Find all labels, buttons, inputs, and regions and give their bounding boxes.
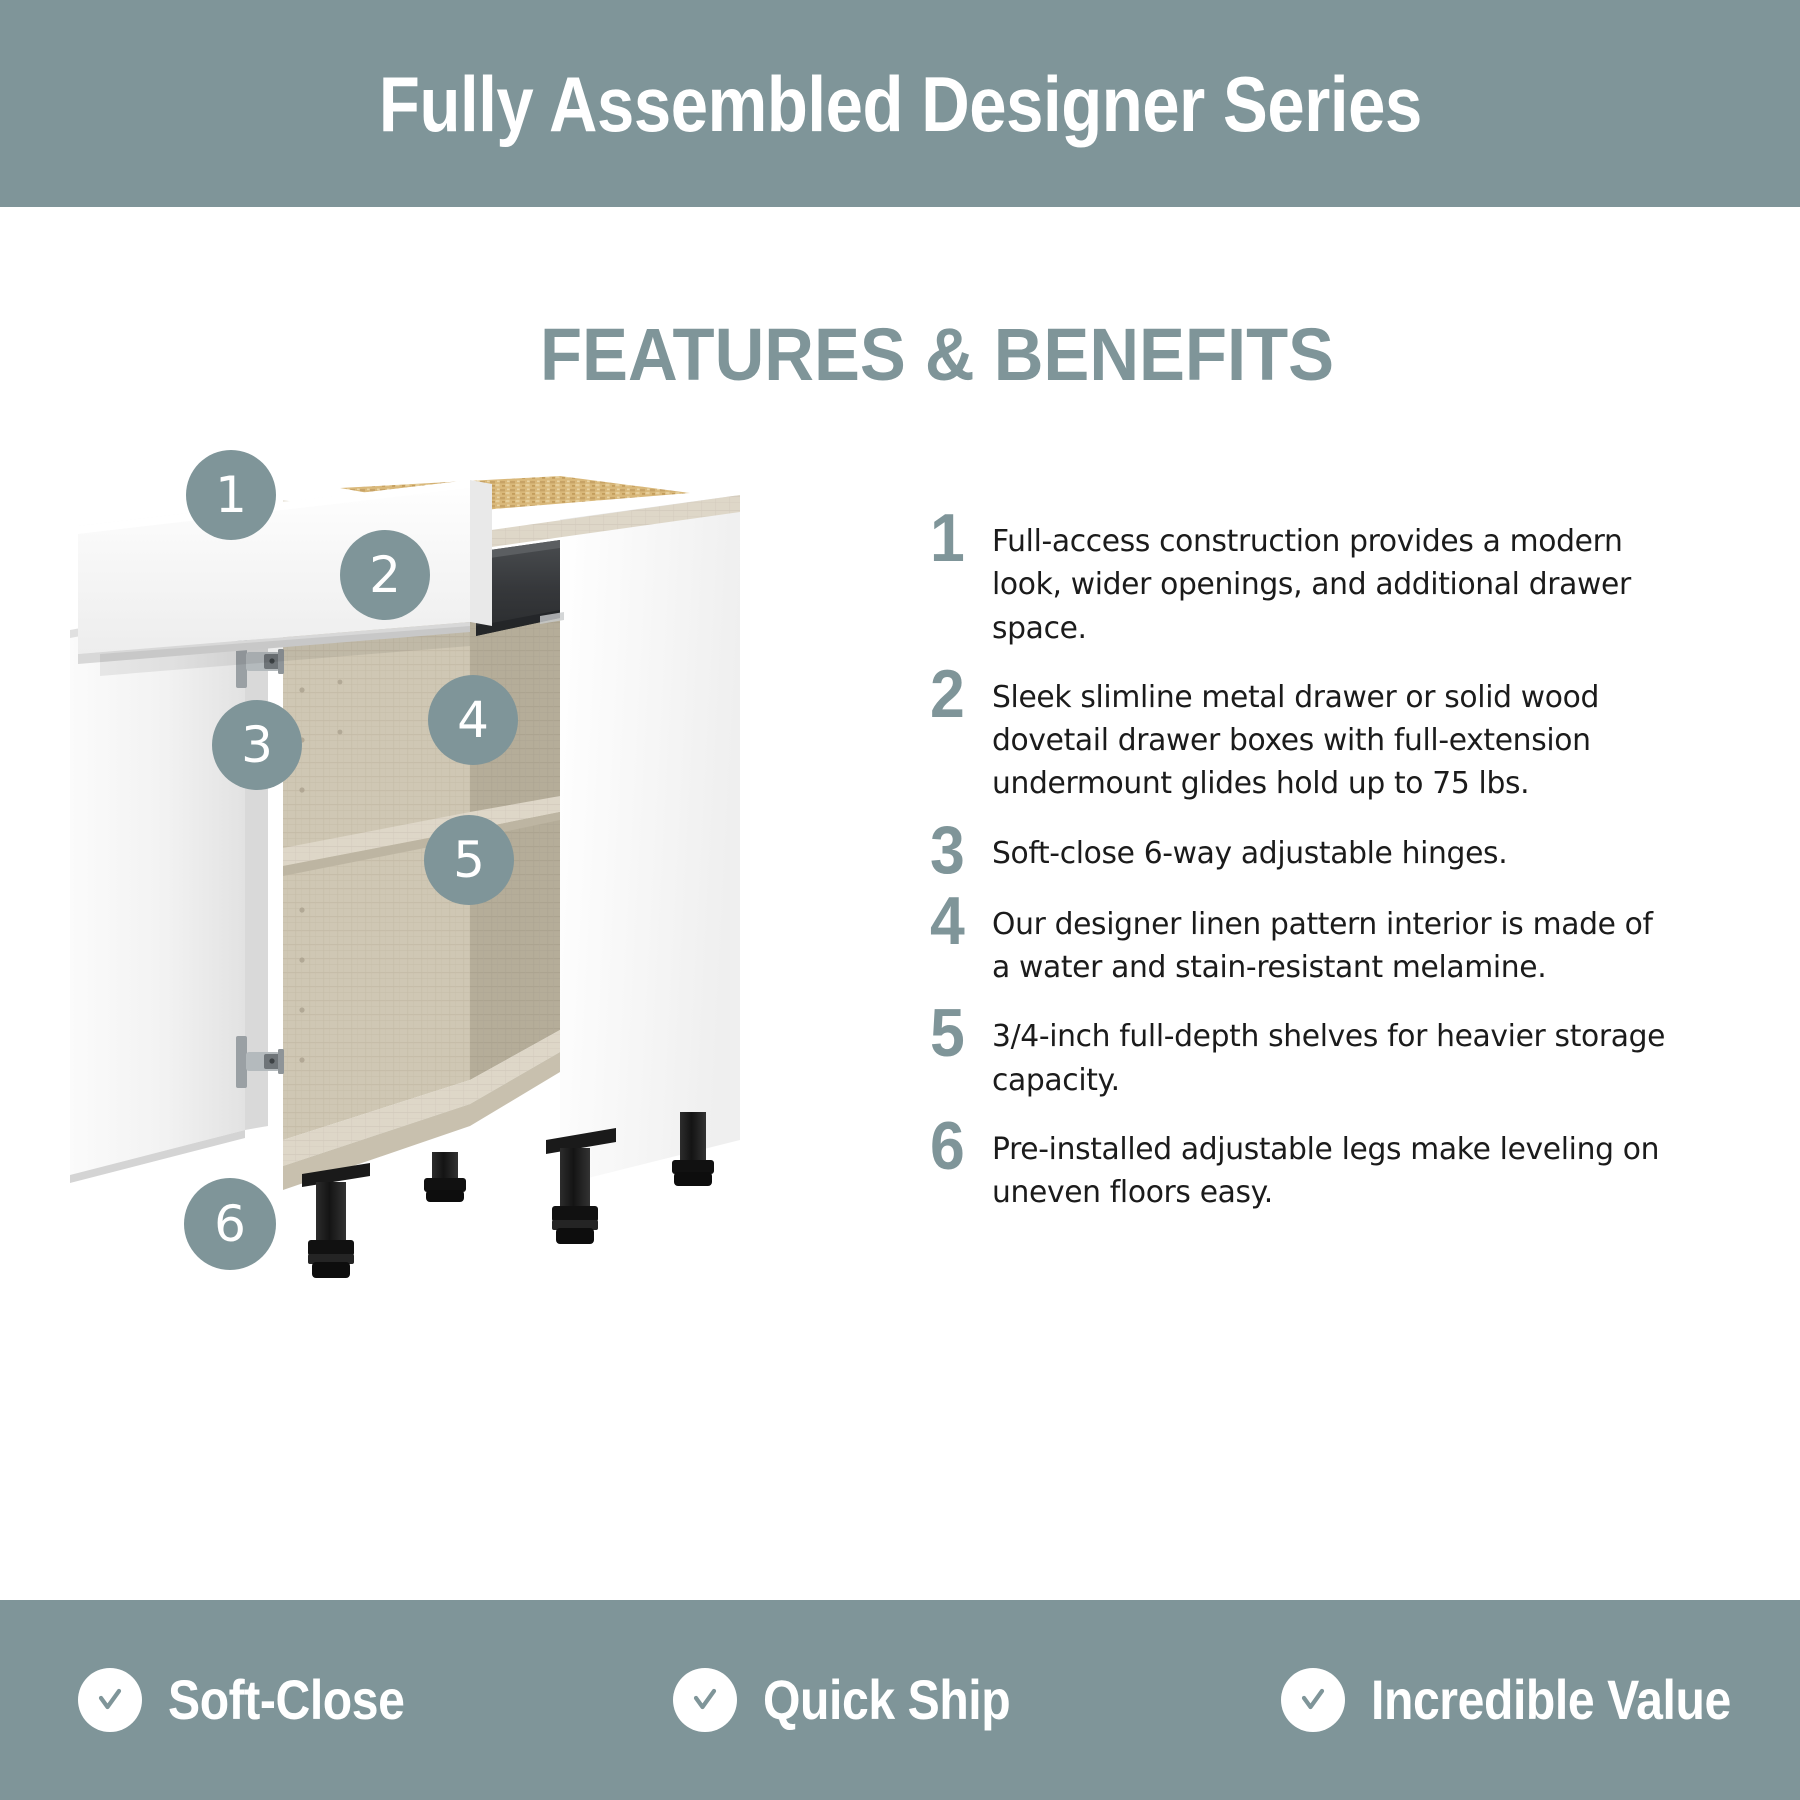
callout-badge-2[interactable]: 2 — [340, 530, 430, 620]
feature-text-6: Pre-installed adjustable legs make level… — [992, 1128, 1673, 1215]
feature-text-2: Sleek slimline metal drawer or solid woo… — [992, 676, 1673, 806]
footer-label-soft-close: Soft-Close — [168, 1672, 405, 1728]
check-icon — [78, 1668, 142, 1732]
footer-label-quick-ship: Quick Ship — [763, 1672, 1010, 1728]
feature-text-3: Soft-close 6-way adjustable hinges. — [992, 832, 1673, 875]
callout-badge-3[interactable]: 3 — [212, 700, 302, 790]
feature-number-3: 3 — [930, 824, 987, 877]
feature-item-2: 2 Sleek slimline metal drawer or solid w… — [930, 676, 1690, 806]
feature-item-5: 5 3/4-inch full-depth shelves for heavie… — [930, 1015, 1690, 1102]
door-inner-edge — [245, 598, 268, 1130]
feature-item-1: 1 Full-access construction provides a mo… — [930, 520, 1690, 650]
feature-number-2: 2 — [930, 668, 987, 721]
infographic-page: Fully Assembled Designer Series FEATURES… — [0, 0, 1800, 1800]
feature-text-1: Full-access construction provides a mode… — [992, 520, 1673, 650]
check-icon — [1281, 1668, 1345, 1732]
adjustable-leg-back-center — [424, 1152, 466, 1202]
footer-label-incredible-value: Incredible Value — [1371, 1672, 1731, 1728]
drawer-front-side — [470, 480, 492, 626]
footer-band: Soft-Close Quick Ship Incredible Value — [0, 1600, 1800, 1800]
feature-number-4: 4 — [930, 895, 987, 948]
feature-item-3: 3 Soft-close 6-way adjustable hinges. — [930, 832, 1690, 877]
feature-number-1: 1 — [930, 512, 987, 565]
feature-number-5: 5 — [930, 1007, 987, 1060]
callout-badge-5[interactable]: 5 — [424, 815, 514, 905]
cabinet-door-front — [70, 598, 245, 1175]
footer-benefit-quick-ship: Quick Ship — [597, 1668, 1192, 1732]
feature-item-4: 4 Our designer linen pattern interior is… — [930, 903, 1690, 990]
check-icon — [673, 1668, 737, 1732]
callout-badge-6[interactable]: 6 — [184, 1178, 276, 1270]
header-band: Fully Assembled Designer Series — [0, 0, 1800, 207]
footer-benefit-soft-close: Soft-Close — [0, 1668, 597, 1732]
features-list: 1 Full-access construction provides a mo… — [930, 520, 1690, 1241]
feature-item-6: 6 Pre-installed adjustable legs make lev… — [930, 1128, 1690, 1215]
footer-benefit-incredible-value: Incredible Value — [1191, 1668, 1800, 1732]
callout-badge-1[interactable]: 1 — [186, 450, 276, 540]
section-heading: FEATURES & BENEFITS — [540, 318, 1334, 392]
feature-text-5: 3/4-inch full-depth shelves for heavier … — [992, 1015, 1673, 1102]
feature-number-6: 6 — [930, 1120, 987, 1173]
adjustable-leg-front-left — [302, 1163, 370, 1278]
page-title: Fully Assembled Designer Series — [379, 65, 1422, 143]
feature-text-4: Our designer linen pattern interior is m… — [992, 903, 1673, 990]
callout-badge-4[interactable]: 4 — [428, 675, 518, 765]
